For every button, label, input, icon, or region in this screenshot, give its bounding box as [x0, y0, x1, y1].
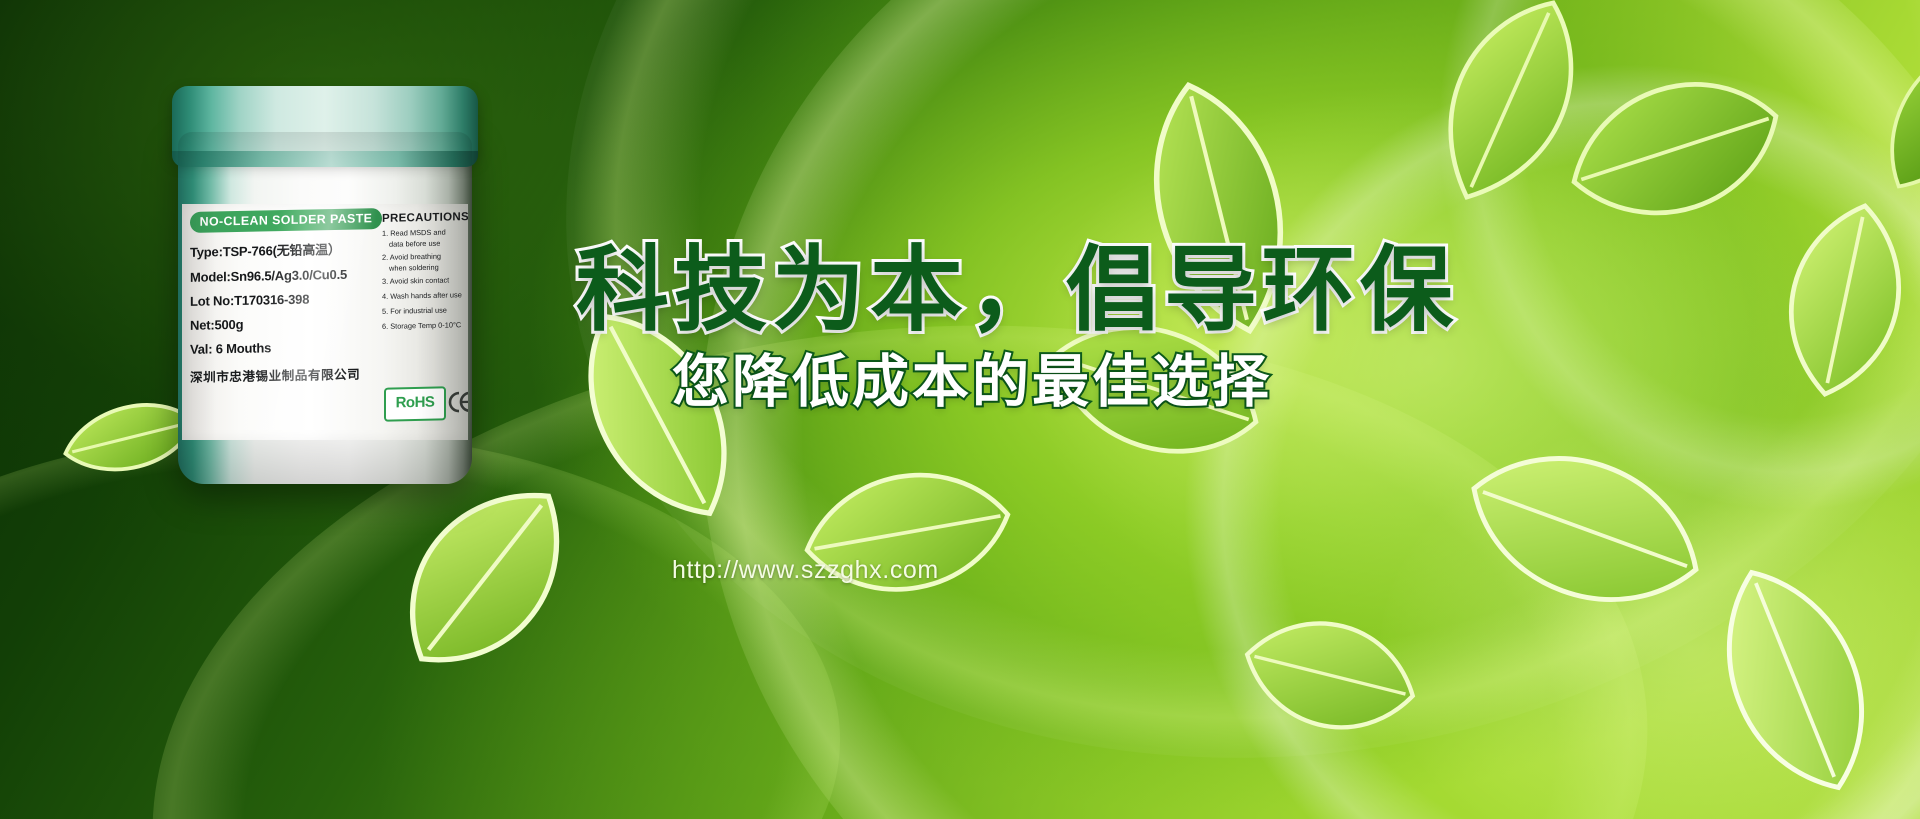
- background-swirl-5: [1430, 0, 1920, 520]
- label-line-lot: Lot No:T170316-398: [190, 290, 382, 309]
- promotional-banner: NO-CLEAN SOLDER PASTE Type:TSP-766(无铅高温）…: [0, 0, 1920, 819]
- label-line-type: Type:TSP-766(无铅高温）: [190, 238, 382, 261]
- precaution-item: 3. Avoid skin contact: [382, 275, 468, 288]
- product-label: NO-CLEAN SOLDER PASTE Type:TSP-766(无铅高温）…: [182, 204, 468, 440]
- label-line-model: Model:Sn96.5/Ag3.0/Cu0.5: [190, 266, 382, 285]
- leaf-icon: [800, 450, 1015, 615]
- background-glow-2: [1380, 420, 1920, 819]
- background-swirl-3: [1180, 60, 1920, 819]
- precaution-item: data before use: [389, 238, 468, 249]
- label-precautions-column: PRECAUTIONS 1. Read MSDS and data before…: [382, 211, 468, 332]
- rohs-badge: RoHS: [384, 386, 446, 421]
- label-line-net: Net:500g: [190, 314, 382, 333]
- ce-badge-icon: [448, 390, 468, 415]
- leaf-icon: [1240, 600, 1420, 750]
- page-title: 科技为本，倡导环保: [576, 214, 1458, 349]
- precaution-item: when soldering: [389, 262, 468, 273]
- leaf-icon: [1880, 30, 1920, 200]
- label-left-column: NO-CLEAN SOLDER PASTE Type:TSP-766(无铅高温）…: [190, 210, 382, 384]
- leaf-icon: [380, 470, 590, 685]
- label-line-validity: Val: 6 Mouths: [190, 338, 382, 357]
- leaf-icon: [1560, 60, 1790, 240]
- leaf-icon: [1760, 200, 1920, 400]
- precaution-item: 5. For industrial use: [382, 305, 468, 318]
- leaf-icon: [1460, 430, 1710, 630]
- precautions-title: PRECAUTIONS: [382, 211, 468, 225]
- leaf-icon: [1700, 560, 1890, 800]
- background-swirl-6: [0, 430, 840, 819]
- label-company-name: 深圳市忠港锡业制品有限公司: [190, 363, 382, 386]
- product-jar: NO-CLEAN SOLDER PASTE Type:TSP-766(无铅高温）…: [160, 86, 490, 486]
- precaution-item: 6. Storage Temp 0-10°C: [382, 320, 468, 333]
- label-product-type-banner: NO-CLEAN SOLDER PASTE: [190, 208, 382, 233]
- page-subtitle: 您降低成本的最佳选择: [672, 336, 1272, 418]
- leaf-icon: [1415, 0, 1605, 210]
- website-url: http://www.szzghx.com: [672, 556, 939, 585]
- precaution-item: 4. Wash hands after use: [382, 290, 468, 303]
